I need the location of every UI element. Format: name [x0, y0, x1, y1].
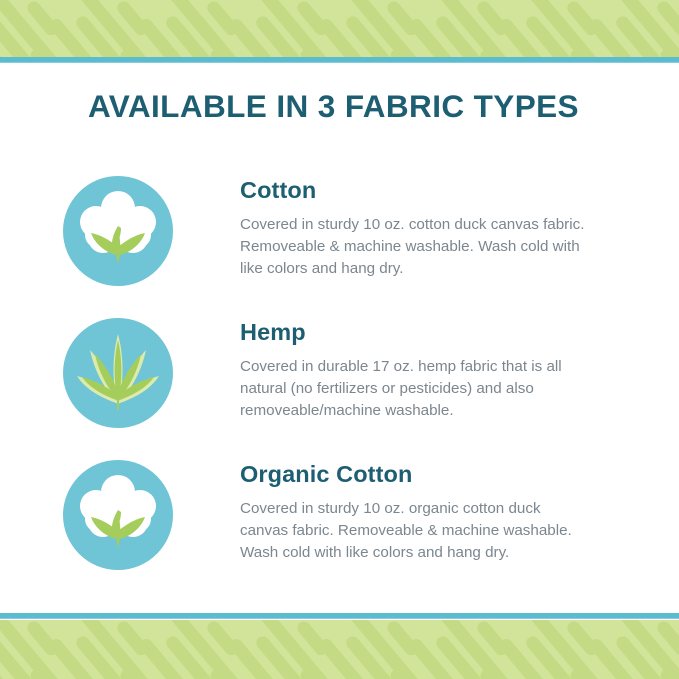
list-item-description: Covered in durable 17 oz. hemp fabric th… [240, 356, 592, 423]
list-item-description: Covered in sturdy 10 oz. cotton duck can… [240, 214, 592, 281]
hemp-leaf-glyph [63, 318, 173, 428]
bottom-decorative-banner [0, 620, 679, 679]
top-decorative-banner [0, 0, 679, 57]
top-divider-rule [0, 57, 679, 63]
fabric-type-list: Cotton Covered in sturdy 10 oz. cotton d… [0, 168, 679, 602]
list-item: Hemp Covered in durable 17 oz. hemp fabr… [0, 310, 679, 452]
list-item-text: Hemp Covered in durable 17 oz. hemp fabr… [173, 310, 592, 422]
list-item-title: Organic Cotton [240, 462, 592, 487]
diagonal-stripe-pattern-icon [0, 0, 679, 57]
cotton-boll-icon [63, 460, 173, 570]
bottom-divider-rule [0, 613, 679, 619]
page-title: AVAILABLE IN 3 FABRIC TYPES [88, 88, 579, 125]
cotton-boll-glyph [63, 176, 173, 286]
list-item-title: Hemp [240, 320, 592, 345]
list-item: Organic Cotton Covered in sturdy 10 oz. … [0, 452, 679, 602]
list-item: Cotton Covered in sturdy 10 oz. cotton d… [0, 168, 679, 310]
list-item-title: Cotton [240, 178, 592, 203]
cotton-boll-glyph [63, 460, 173, 570]
hemp-leaf-icon [63, 318, 173, 428]
diagonal-stripe-pattern-icon [0, 620, 679, 679]
list-item-text: Cotton Covered in sturdy 10 oz. cotton d… [173, 168, 592, 280]
list-item-description: Covered in sturdy 10 oz. organic cotton … [240, 498, 592, 565]
list-item-text: Organic Cotton Covered in sturdy 10 oz. … [173, 452, 592, 564]
cotton-boll-icon [63, 176, 173, 286]
